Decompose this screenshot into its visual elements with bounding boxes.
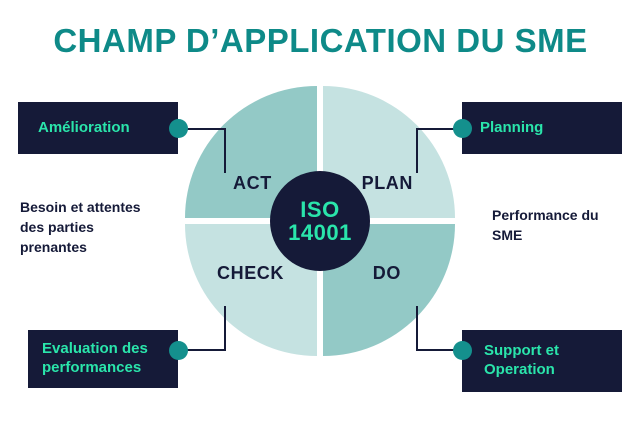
connector-line-support-vertical <box>416 306 418 351</box>
label-box-support[interactable]: Support et Operation <box>462 330 622 392</box>
page-title: CHAMP D’APPLICATION DU SME <box>0 24 641 57</box>
side-note-left: Besoin et attentes des parties prenantes <box>20 198 150 258</box>
connector-line-planning-vertical <box>416 128 418 173</box>
quadrant-label-do: DO <box>373 264 401 282</box>
connector-dot-evaluation <box>169 341 188 360</box>
hub-line-14001: 14001 <box>288 221 352 244</box>
connector-line-support-horizontal <box>416 349 458 351</box>
side-note-right: Performance du SME <box>492 206 632 246</box>
label-box-planning[interactable]: Planning <box>462 102 622 154</box>
label-box-amelioration-text: Amélioration <box>38 119 130 138</box>
connector-line-amelioration-horizontal <box>184 128 226 130</box>
connector-line-evaluation-horizontal <box>184 349 226 351</box>
connector-line-planning-horizontal <box>416 128 458 130</box>
quadrant-label-check: CHECK <box>217 264 284 282</box>
connector-line-amelioration-vertical <box>224 128 226 173</box>
hub-line-iso: ISO <box>300 198 339 221</box>
iso-hub-circle: ISO 14001 <box>270 171 370 271</box>
label-box-amelioration[interactable]: Amélioration <box>18 102 178 154</box>
connector-dot-support <box>453 341 472 360</box>
quadrant-label-plan: PLAN <box>362 174 413 192</box>
label-box-support-text: Support et Operation <box>484 342 622 380</box>
quadrant-label-act: ACT <box>233 174 272 192</box>
connector-line-evaluation-vertical <box>224 306 226 351</box>
label-box-evaluation-text: Evaluation des performances <box>42 340 178 378</box>
label-box-planning-text: Planning <box>480 119 543 138</box>
connector-dot-planning <box>453 119 472 138</box>
connector-dot-amelioration <box>169 119 188 138</box>
infographic-canvas: CHAMP D’APPLICATION DU SME ACT PLAN CHEC… <box>0 0 641 422</box>
label-box-evaluation[interactable]: Evaluation des performances <box>28 330 178 388</box>
